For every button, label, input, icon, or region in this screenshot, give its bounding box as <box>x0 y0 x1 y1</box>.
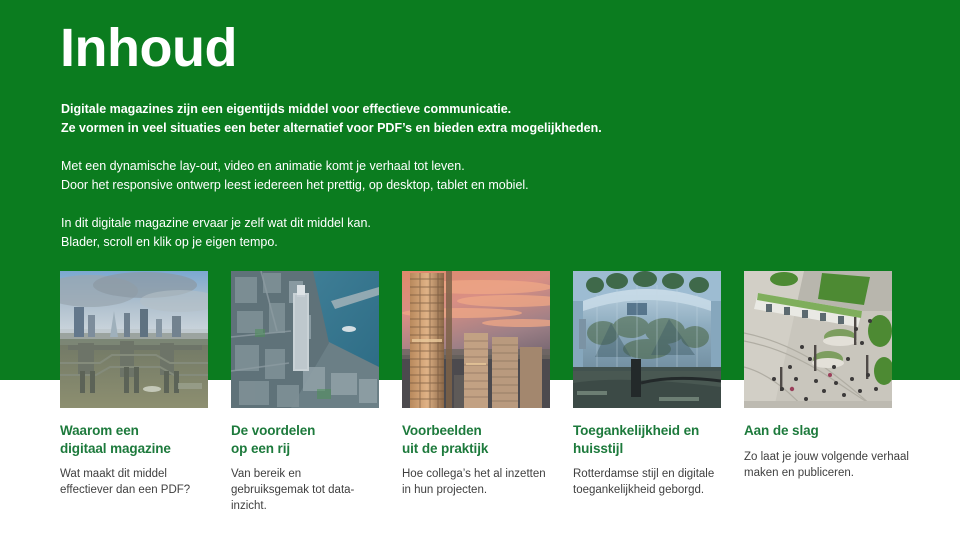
rotterdam-aerial-city-center-maas-photo[interactable] <box>231 271 379 408</box>
card-description-4: Rotterdamse stijl en digitale toegankeli… <box>573 466 738 498</box>
intro-body-line-4: Blader, scroll en klik op je eigen tempo… <box>61 233 761 252</box>
card-title-3: Voorbeelden uit de praktijk <box>402 422 550 457</box>
intro-lead-line-2: Ze vormen in veel situaties een beter al… <box>61 119 761 138</box>
intro-body-line-2: Door het responsive ontwerp leest iedere… <box>61 176 761 195</box>
page-title: Inhoud <box>60 16 237 80</box>
card-title-2-line-2: op een rij <box>231 441 290 456</box>
intro-spacer-2 <box>61 195 761 214</box>
card-row: Waarom een digitaal magazine Wat maakt d… <box>60 271 915 514</box>
intro-body-line-1: Met een dynamische lay-out, video en ani… <box>61 157 761 176</box>
card-title-1-line-1: Waarom een <box>60 423 139 438</box>
card-title-5: Aan de slag <box>744 422 909 440</box>
content-card-2[interactable]: De voordelen op een rij Van bereik en ge… <box>231 271 379 514</box>
card-description-3: Hoe collega’s het al inzetten in hun pro… <box>402 466 550 498</box>
card-title-5-line-1: Aan de slag <box>744 423 819 438</box>
rotterdam-koningshaven-bridges-skyline-photo[interactable] <box>60 271 208 408</box>
card-title-2-line-1: De voordelen <box>231 423 315 438</box>
rotterdam-highrise-towers-sunset-photo[interactable] <box>402 271 550 408</box>
card-description-5: Zo laat je jouw volgende verhaal maken e… <box>744 449 909 481</box>
intro-text-block: Digitale magazines zijn een eigentijds m… <box>61 100 761 252</box>
content-card-1[interactable]: Waarom een digitaal magazine Wat maakt d… <box>60 271 208 514</box>
intro-lead-line-1: Digitale magazines zijn een eigentijds m… <box>61 100 761 119</box>
content-card-5[interactable]: Aan de slag Zo laat je jouw volgende ver… <box>744 271 892 514</box>
card-description-1: Wat maakt dit middel effectiever dan een… <box>60 466 208 498</box>
depot-boijmans-mirrored-building-photo[interactable] <box>573 271 721 408</box>
content-card-4[interactable]: Toegankelijkheid en huisstijl Rotterdams… <box>573 271 721 514</box>
card-title-4: Toegankelijkheid en huisstijl <box>573 422 738 457</box>
intro-body-line-3: In dit digitale magazine ervaar je zelf … <box>61 214 761 233</box>
card-description-2: Van bereik en gebruiksgemak tot data-inz… <box>231 466 379 514</box>
content-card-3[interactable]: Voorbeelden uit de praktijk Hoe collega’… <box>402 271 550 514</box>
rotterdam-square-tram-aerial-photo[interactable] <box>744 271 892 408</box>
card-title-4-line-1: Toegankelijkheid en <box>573 423 699 438</box>
card-title-3-line-2: uit de praktijk <box>402 441 488 456</box>
slide-root: Inhoud Digitale magazines zijn een eigen… <box>0 0 960 540</box>
card-title-2: De voordelen op een rij <box>231 422 379 457</box>
intro-spacer-1 <box>61 138 761 157</box>
card-title-1: Waarom een digitaal magazine <box>60 422 208 457</box>
card-title-4-line-2: huisstijl <box>573 441 623 456</box>
card-title-1-line-2: digitaal magazine <box>60 441 171 456</box>
card-title-3-line-1: Voorbeelden <box>402 423 482 438</box>
